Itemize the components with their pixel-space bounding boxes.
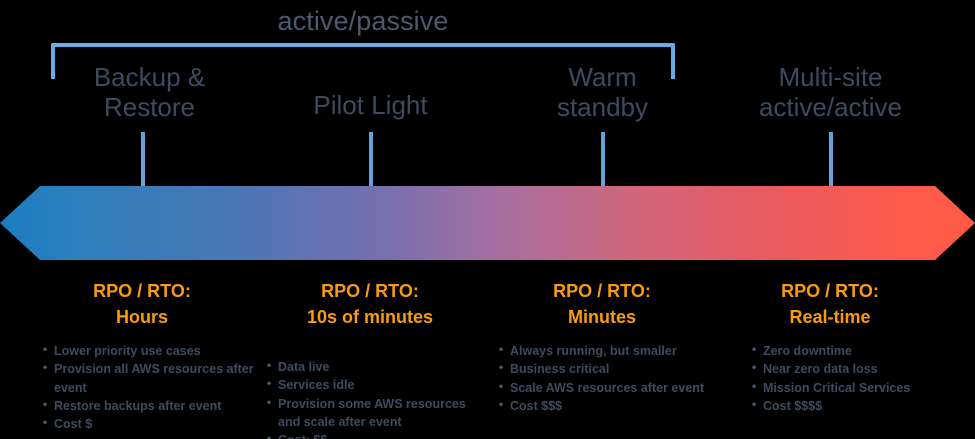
rpo-rto-pilot-light: RPO / RTO: 10s of minutes — [256, 278, 484, 330]
gradient-bar — [0, 186, 975, 260]
list-item: Services idle — [267, 376, 472, 394]
list-item: Provision some AWS resources and scale a… — [267, 395, 472, 432]
column-heading-backup-restore: Backup & Restore — [27, 62, 272, 123]
list-item: Cost $$$ — [499, 397, 711, 415]
rpo-rto-multi-site: RPO / RTO: Real-time — [716, 278, 944, 330]
column-heading-multi-site-active-active: Multi-site active/active — [708, 62, 953, 123]
list-item: Cost $$$$ — [752, 397, 967, 415]
recovery-spectrum-arrow — [0, 186, 975, 260]
column-heading-warm-standby: Warm standby — [480, 62, 725, 123]
list-item: Data live — [267, 358, 472, 376]
list-item: Restore backups after event — [43, 397, 258, 415]
list-item: Near zero data loss — [752, 360, 967, 378]
active-passive-label: active/passive — [51, 6, 675, 37]
list-item: Zero downtime — [752, 342, 967, 360]
list-item: Lower priority use cases — [43, 342, 258, 360]
rpo-rto-warm-standby: RPO / RTO: Minutes — [488, 278, 716, 330]
disaster-recovery-strategy-diagram: active/passive Backup & Restore Pilot Li… — [0, 0, 975, 439]
list-item: Cost $ — [43, 415, 258, 433]
list-item: Business critical — [499, 360, 711, 378]
rpo-rto-backup-restore: RPO / RTO: Hours — [28, 278, 256, 330]
bullet-list-pilot-light: Data live Services idle Provision some A… — [267, 358, 472, 439]
bullet-list-warm-standby: Always running, but smaller Business cri… — [499, 342, 711, 415]
list-item: Always running, but smaller — [499, 342, 711, 360]
column-heading-pilot-light: Pilot Light — [248, 90, 493, 120]
list-item: Provision all AWS resources after event — [43, 360, 258, 397]
list-item: Mission Critical Services — [752, 379, 967, 397]
bullet-list-multi-site: Zero downtime Near zero data loss Missio… — [752, 342, 967, 415]
bullet-list-backup-restore: Lower priority use cases Provision all A… — [43, 342, 258, 433]
list-item: Cost: $$ — [267, 431, 472, 439]
list-item: Scale AWS resources after event — [499, 379, 711, 397]
